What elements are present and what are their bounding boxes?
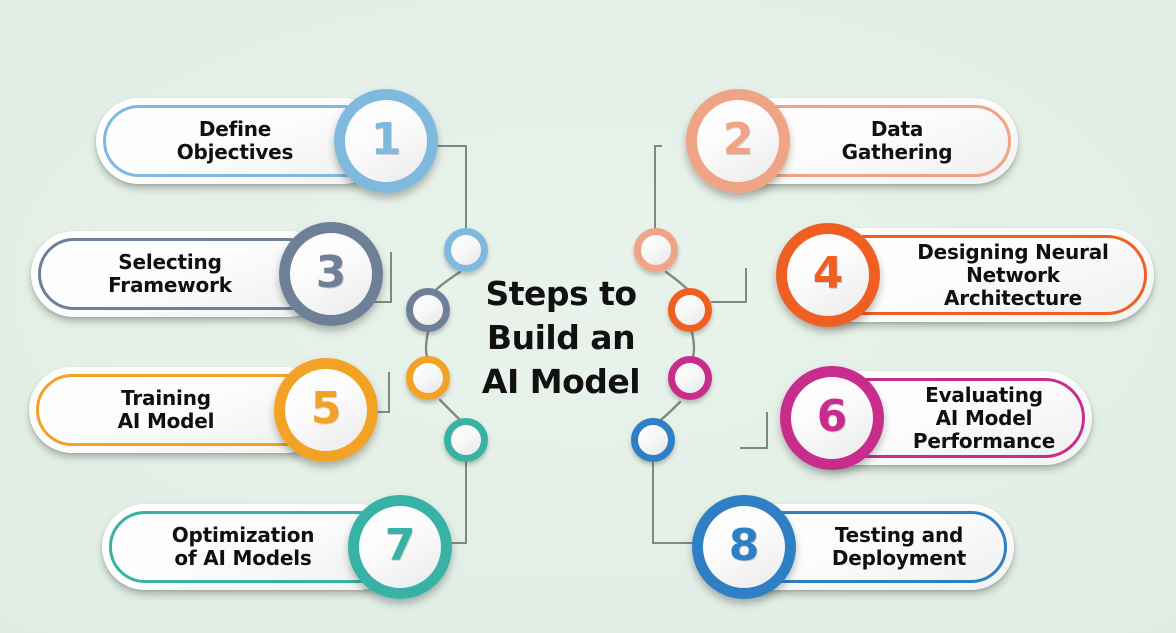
spine-node-1 [444,228,488,272]
step-badge-6: 6 [780,366,884,470]
infographic-canvas: Steps to Build an AI Model Define Object… [0,0,1176,633]
step-pill-5[interactable]: Training AI Model 5 [29,367,329,453]
center-title: Steps to Build an AI Model [466,272,656,404]
step-pill-3[interactable]: Selecting Framework 3 [31,231,331,317]
step-badge-4: 4 [776,223,880,327]
step-label-2: Data Gathering [790,118,1004,164]
spine-node-4 [668,288,712,332]
step-label-6: Evaluating AI Model Performance [884,384,1084,452]
spine-link-l2 [426,332,428,358]
step-badge-3: 3 [279,222,383,326]
spine-link-l1 [434,272,460,292]
step-label-5: Training AI Model [59,387,273,433]
spine-node-7 [444,418,488,462]
step-pill-8[interactable]: Testing and Deployment 8 [700,504,1014,590]
step-number-1: 1 [371,118,402,162]
step-number-4: 4 [813,252,844,296]
step-number-5: 5 [311,387,342,431]
step-number-2: 2 [723,118,754,162]
step-label-3: Selecting Framework [61,251,279,297]
spine-node-8 [631,418,675,462]
connector-step-6 [740,412,767,448]
step-pill-4[interactable]: Designing Neural Network Architecture 4 [790,228,1154,322]
step-pill-7[interactable]: Optimization of AI Models 7 [102,504,402,590]
step-badge-8: 8 [692,495,796,599]
step-number-7: 7 [385,524,416,568]
step-badge-7: 7 [348,495,452,599]
step-badge-1: 1 [334,89,438,193]
step-pill-1[interactable]: Define Objectives 1 [96,98,386,184]
connector-step-2 [655,146,662,232]
step-label-7: Optimization of AI Models [132,524,354,570]
step-badge-5: 5 [274,358,378,462]
spine-node-2 [634,228,678,272]
step-badge-2: 2 [686,89,790,193]
step-number-8: 8 [729,524,760,568]
spine-node-3 [406,288,450,332]
connector-step-1 [437,146,466,232]
step-label-4: Designing Neural Network Architecture [882,241,1144,309]
step-pill-2[interactable]: Data Gathering 2 [696,98,1018,184]
spine-node-5 [406,356,450,400]
step-number-6: 6 [817,395,848,439]
spine-node-6 [668,356,712,400]
step-label-8: Testing and Deployment [796,524,1002,570]
step-pill-6[interactable]: Evaluating AI Model Performance 6 [792,371,1092,465]
spine-link-r2 [692,332,694,358]
connector-step-4 [711,268,746,302]
step-number-3: 3 [316,251,347,295]
step-label-1: Define Objectives [130,118,340,164]
